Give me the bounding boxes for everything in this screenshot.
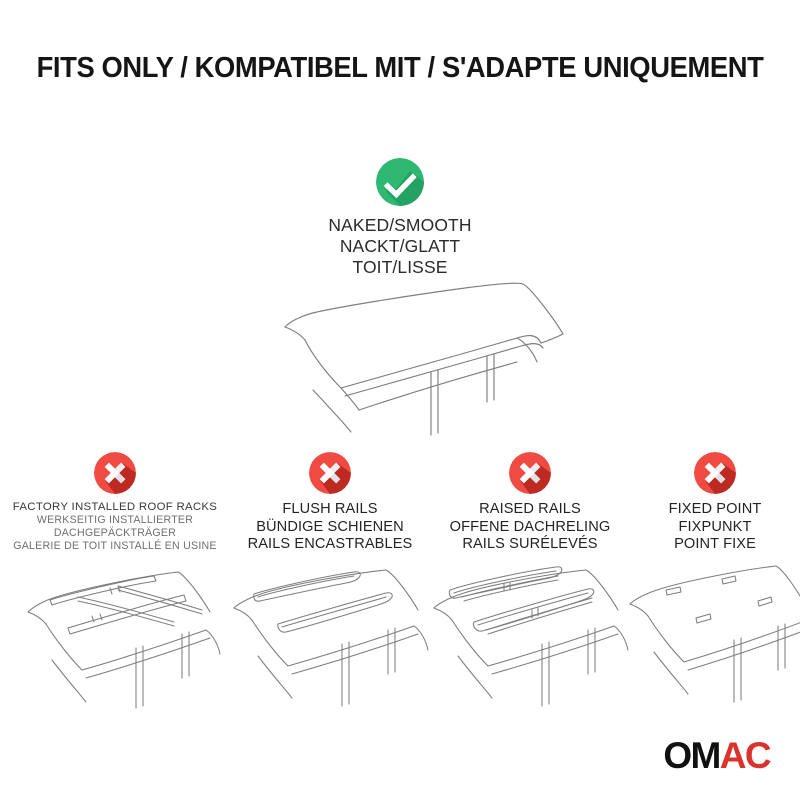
car-roof-naked-smooth-illustration — [255, 272, 575, 437]
omac-logo: OMAC — [663, 737, 770, 774]
logo-text-red: AC — [720, 735, 770, 776]
incompatible-label-1: FIXPUNKT — [669, 519, 762, 537]
incompatible-item-fixed-point: FIXED POINT FIXPUNKT POINT FIXE — [630, 452, 800, 752]
x-circle-icon — [694, 452, 736, 494]
incompatible-label-1: OFFENE DACHRELING — [450, 519, 611, 537]
compatible-label-0: NAKED/SMOOTH — [0, 215, 800, 236]
incompatible-label-0: FLUSH RAILS — [248, 501, 413, 519]
x-circle-icon — [94, 452, 136, 494]
incompatible-label-1: BÜNDIGE SCHIENEN — [248, 519, 413, 537]
incompatible-item-flush-rails: FLUSH RAILS BÜNDIGE SCHIENEN RAILS ENCAS… — [230, 452, 430, 752]
incompatible-section: FACTORY INSTALLED ROOF RACKS WERKSEITIG … — [0, 452, 800, 752]
fitment-infographic: FITS ONLY / KOMPATIBEL MIT / S'ADAPTE UN… — [0, 0, 800, 800]
incompatible-label-1: WERKSEITIG INSTALLIERTER — [13, 514, 217, 527]
car-roof-factory-roof-racks-illustration — [6, 550, 228, 710]
incompatible-labels: RAISED RAILS OFFENE DACHRELING RAILS SUR… — [450, 501, 611, 554]
compatible-label-1: NACKT/GLATT — [0, 236, 800, 257]
page-title: FITS ONLY / KOMPATIBEL MIT / S'ADAPTE UN… — [16, 52, 784, 85]
incompatible-labels: FIXED POINT FIXPUNKT POINT FIXE — [669, 501, 762, 554]
incompatible-label-0: RAISED RAILS — [450, 501, 611, 519]
logo-text-dark: OM — [663, 735, 719, 776]
incompatible-label-2: DACHGEPÄCKTRÄGER — [13, 527, 217, 540]
x-circle-icon — [509, 452, 551, 494]
x-circle-icon — [309, 452, 351, 494]
incompatible-item-factory-roof-racks: FACTORY INSTALLED ROOF RACKS WERKSEITIG … — [0, 452, 230, 752]
incompatible-labels: FLUSH RAILS BÜNDIGE SCHIENEN RAILS ENCAS… — [248, 501, 413, 554]
car-roof-fixed-point-illustration — [618, 550, 800, 710]
incompatible-item-raised-rails: RAISED RAILS OFFENE DACHRELING RAILS SUR… — [430, 452, 630, 752]
check-circle-icon — [376, 158, 424, 206]
compatible-section: NAKED/SMOOTH NACKT/GLATT TOIT/LISSE — [0, 158, 800, 278]
compatible-labels: NAKED/SMOOTH NACKT/GLATT TOIT/LISSE — [0, 215, 800, 278]
incompatible-label-0: FACTORY INSTALLED ROOF RACKS — [13, 501, 217, 514]
incompatible-labels: FACTORY INSTALLED ROOF RACKS WERKSEITIG … — [13, 501, 217, 553]
car-roof-flush-rails-illustration — [220, 550, 432, 710]
car-roof-raised-rails-illustration — [420, 550, 632, 710]
incompatible-label-0: FIXED POINT — [669, 501, 762, 519]
